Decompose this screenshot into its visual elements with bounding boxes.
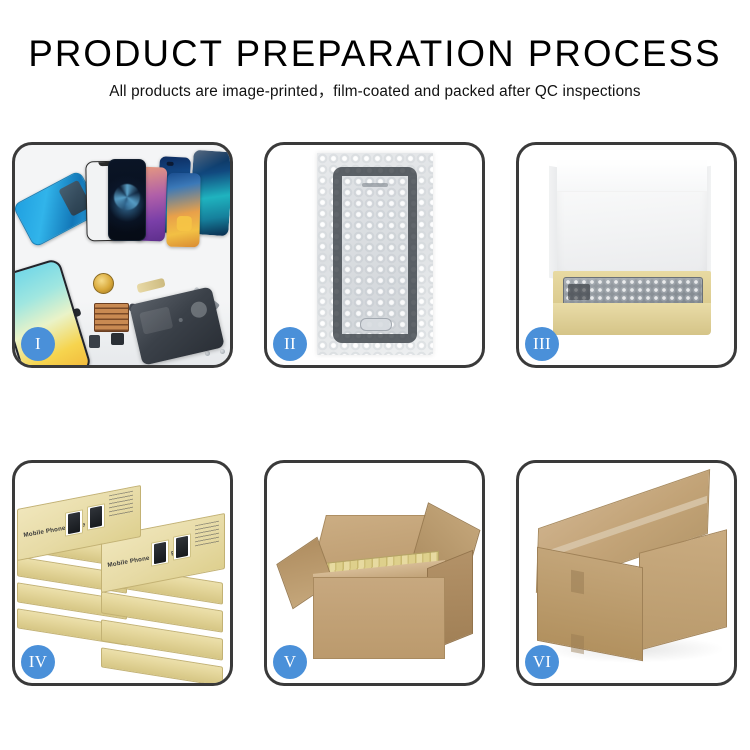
step-badge-2: II xyxy=(273,327,307,361)
box-assembly xyxy=(541,153,719,361)
retail-box-thumb-right-1 xyxy=(151,539,169,566)
part-chip-c xyxy=(111,333,124,345)
part-chip-b xyxy=(89,335,100,348)
product-preparation-process-page: PRODUCT PREPARATION PROCESS All products… xyxy=(0,0,750,750)
retail-box-thumb-left-1 xyxy=(65,509,83,536)
part-screw-2 xyxy=(220,349,225,354)
carton-seam-lower xyxy=(571,634,584,655)
step-badge-5: V xyxy=(273,645,307,679)
part-flex-cable-gold xyxy=(136,278,165,294)
carton-seam-upper xyxy=(571,570,584,595)
open-shipping-carton xyxy=(279,493,475,673)
white-foam-padding xyxy=(557,159,707,283)
part-gold-coil xyxy=(93,273,114,294)
header: PRODUCT PREPARATION PROCESS All products… xyxy=(0,32,750,102)
step-badge-3: III xyxy=(525,327,559,361)
process-step-panel-4: Mobile Phone Spare Parts Mobile Phone Sp… xyxy=(12,460,233,686)
retail-box-thumb-right-2 xyxy=(173,533,191,560)
retail-box-spec-lines-left xyxy=(109,491,133,518)
carton-front-panel xyxy=(313,577,445,659)
retail-box-spec-lines-right xyxy=(195,521,219,548)
page-subtitle: All products are image-printed，film-coat… xyxy=(0,82,750,102)
process-step-panel-6: VI xyxy=(516,460,737,686)
phone-orange-gradient xyxy=(166,173,200,248)
process-step-panel-5: V xyxy=(264,460,485,686)
part-copper-grid xyxy=(94,303,129,332)
lcd-screen-under-wrap xyxy=(333,167,417,343)
yellow-box-front-wall xyxy=(553,303,711,335)
earpiece-slot xyxy=(362,183,388,187)
step-badge-6: VI xyxy=(525,645,559,679)
process-step-panel-2: II xyxy=(264,142,485,368)
phone-dark-fractal-screen xyxy=(108,159,146,241)
step-badge-1: I xyxy=(21,327,55,361)
bubble-wrap-sheet xyxy=(317,153,433,355)
home-button-cutout xyxy=(360,318,392,331)
step-badge-4: IV xyxy=(21,645,55,679)
sealed-shipping-carton xyxy=(531,485,729,671)
part-screw-3 xyxy=(205,351,210,356)
page-title: PRODUCT PREPARATION PROCESS xyxy=(4,32,747,76)
retail-box-thumb-left-2 xyxy=(87,503,105,530)
process-step-panel-3: III xyxy=(516,142,737,368)
process-steps-grid: I II xyxy=(12,142,738,686)
process-step-panel-1: I xyxy=(12,142,233,368)
